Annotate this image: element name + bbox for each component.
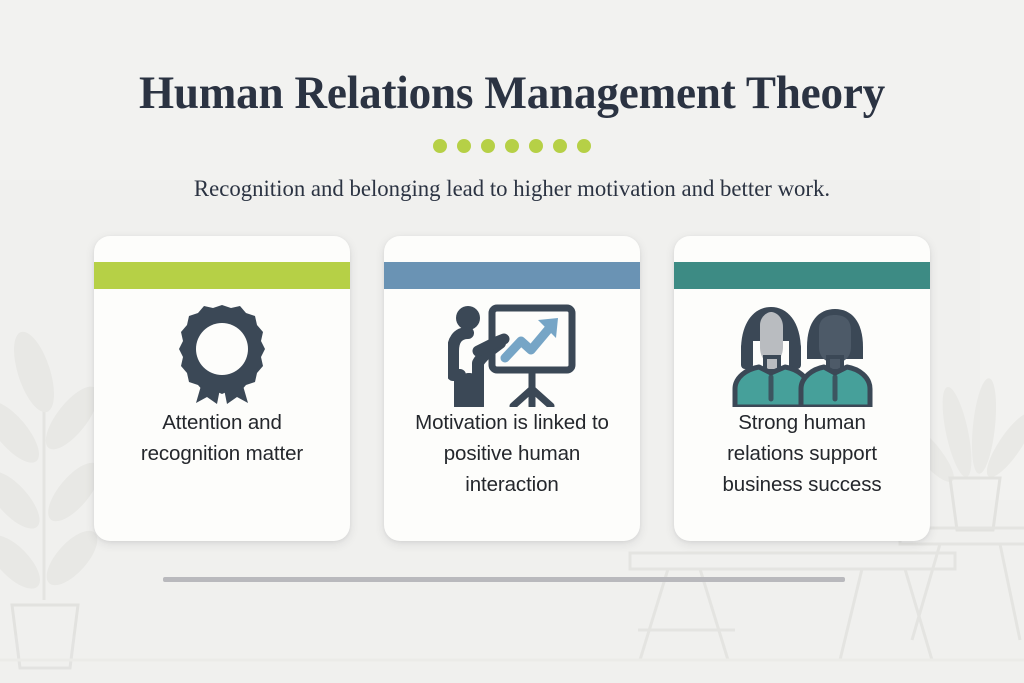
two-people-icon — [674, 289, 930, 407]
divider-dot — [529, 139, 543, 153]
card-attention-recognition[interactable]: Attention and recognition matter — [94, 236, 350, 541]
divider-dots — [0, 139, 1024, 153]
infographic-canvas: Human Relations Management Theory Recogn… — [0, 0, 1024, 683]
divider-dot — [553, 139, 567, 153]
page-title: Human Relations Management Theory — [20, 70, 1003, 117]
divider-dot — [505, 139, 519, 153]
card-row: Attention and recognition matter — [0, 236, 1024, 541]
card-caption: Strong human relations support business … — [674, 407, 930, 500]
shelf-line — [163, 577, 845, 582]
person-man — [801, 309, 870, 407]
presenter-whiteboard-chart-icon — [384, 289, 640, 407]
card-caption: Motivation is linked to positive human i… — [384, 407, 640, 500]
divider-dot — [577, 139, 591, 153]
divider-dot — [457, 139, 471, 153]
header: Human Relations Management Theory Recogn… — [0, 0, 1024, 201]
divider-dot — [433, 139, 447, 153]
card-accent-bar — [674, 262, 930, 289]
person-woman — [735, 307, 809, 407]
card-motivation-interaction[interactable]: Motivation is linked to positive human i… — [384, 236, 640, 541]
card-accent-bar — [94, 262, 350, 289]
card-human-relations-success[interactable]: Strong human relations support business … — [674, 236, 930, 541]
card-caption: Attention and recognition matter — [94, 407, 350, 469]
divider-dot — [481, 139, 495, 153]
page-subtitle: Recognition and belonging lead to higher… — [5, 176, 1019, 201]
card-accent-bar — [384, 262, 640, 289]
award-ribbon-icon — [94, 289, 350, 407]
